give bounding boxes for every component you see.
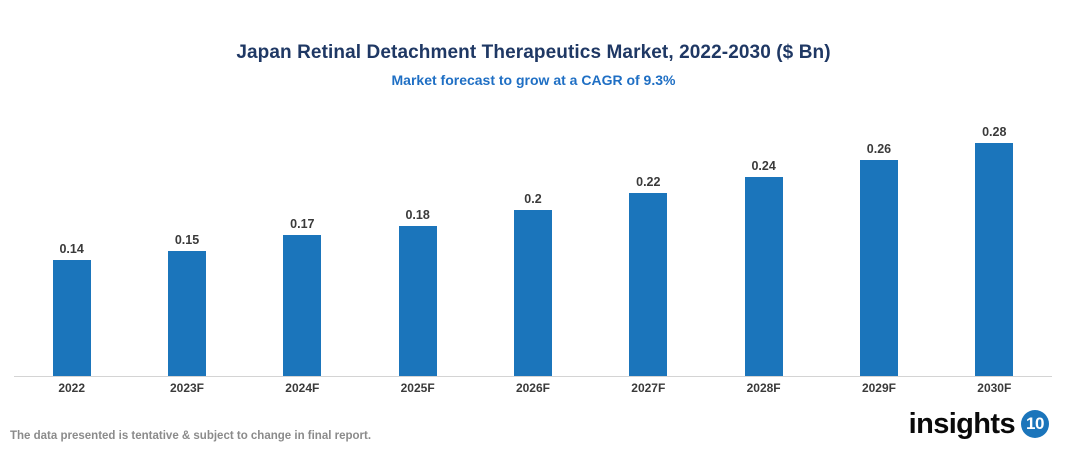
x-tick-label: 2024F — [285, 381, 319, 395]
bar — [283, 235, 321, 376]
chart-figure: Japan Retinal Detachment Therapeutics Ma… — [0, 0, 1067, 454]
x-tick: 2022 — [14, 379, 129, 397]
bar-group: 0.24 — [706, 110, 821, 376]
bar-value-label: 0.24 — [751, 159, 775, 173]
bar-group: 0.14 — [14, 110, 129, 376]
bar-value-label: 0.2 — [524, 192, 541, 206]
disclaimer-text: The data presented is tentative & subjec… — [10, 429, 371, 444]
x-tick: 2026F — [475, 379, 590, 397]
x-tick-label: 2023F — [170, 381, 204, 395]
title-block: Japan Retinal Detachment Therapeutics Ma… — [0, 40, 1067, 91]
insights10-logo: insights 10 — [909, 409, 1049, 439]
bar-series: 0.140.150.170.180.20.220.240.260.28 — [14, 110, 1052, 376]
bar-group: 0.2 — [475, 110, 590, 376]
bar — [514, 210, 552, 376]
bar-value-label: 0.15 — [175, 233, 199, 247]
chart-subtitle: Market forecast to grow at a CAGR of 9.3… — [0, 69, 1067, 91]
x-tick: 2024F — [245, 379, 360, 397]
bar — [860, 160, 898, 376]
x-tick-label: 2022 — [58, 381, 85, 395]
x-tick: 2027F — [591, 379, 706, 397]
x-tick: 2029F — [821, 379, 936, 397]
bar-value-label: 0.28 — [982, 125, 1006, 139]
x-tick: 2030F — [937, 379, 1052, 397]
bar — [975, 143, 1013, 376]
bar-group: 0.22 — [591, 110, 706, 376]
bar-value-label: 0.26 — [867, 142, 891, 156]
x-tick-label: 2029F — [862, 381, 896, 395]
x-tick: 2025F — [360, 379, 475, 397]
bar-group: 0.18 — [360, 110, 475, 376]
x-axis-tick-labels: 20222023F2024F2025F2026F2027F2028F2029F2… — [14, 379, 1052, 397]
page-title: Japan Retinal Detachment Therapeutics Ma… — [0, 40, 1067, 66]
logo-badge-icon: 10 — [1021, 410, 1049, 438]
x-tick: 2023F — [129, 379, 244, 397]
x-tick-label: 2026F — [516, 381, 550, 395]
bar-value-label: 0.22 — [636, 175, 660, 189]
x-tick: 2028F — [706, 379, 821, 397]
bar — [629, 193, 667, 376]
bar — [168, 251, 206, 376]
bar-group: 0.17 — [245, 110, 360, 376]
x-axis-line — [14, 376, 1052, 377]
x-tick-label: 2030F — [977, 381, 1011, 395]
x-tick-label: 2025F — [401, 381, 435, 395]
bar-group: 0.28 — [937, 110, 1052, 376]
bar-value-label: 0.18 — [405, 208, 429, 222]
bar-group: 0.26 — [821, 110, 936, 376]
bar-value-label: 0.17 — [290, 217, 314, 231]
x-tick-label: 2028F — [747, 381, 781, 395]
x-tick-label: 2027F — [631, 381, 665, 395]
bar — [745, 177, 783, 377]
bar-value-label: 0.14 — [59, 242, 83, 256]
bar-group: 0.15 — [129, 110, 244, 376]
bar — [53, 260, 91, 376]
bar — [399, 226, 437, 376]
logo-wordmark: insights — [909, 409, 1015, 439]
